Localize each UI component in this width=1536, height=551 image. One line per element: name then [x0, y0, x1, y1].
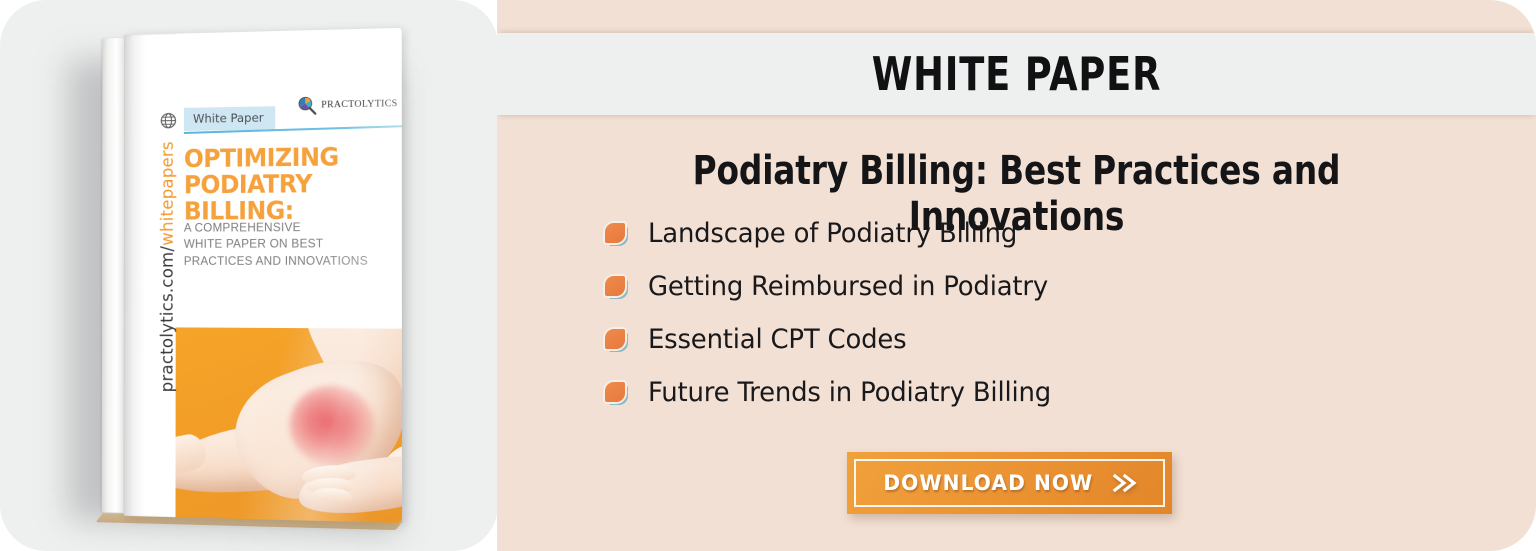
list-item-label: Getting Reimbursed in Podiatry: [648, 271, 1048, 302]
magnifier-pie-chart-icon: [297, 95, 318, 116]
promo-content-panel: WHITE PAPER Podiatry Billing: Best Pract…: [497, 0, 1536, 551]
banner-band-title: WHITE PAPER: [601, 33, 1432, 115]
book-3d: practolytics.com/whitepapers White Paper: [106, 28, 405, 523]
book-whitepaper-badge: White Paper: [184, 106, 275, 131]
whitepaper-book-mockup: practolytics.com/whitepapers White Paper: [60, 25, 420, 525]
list-item-label: Future Trends in Podiatry Billing: [648, 377, 1051, 408]
book-cover-top: White Paper PRACTOLYTICS: [176, 28, 402, 329]
book-brand-lockup: PRACTOLYTICS: [297, 94, 398, 116]
book-spine-strip: practolytics.com/whitepapers: [145, 33, 190, 517]
list-item: Future Trends in Podiatry Billing: [605, 377, 1068, 408]
list-item-label: Landscape of Podiatry Billing: [648, 218, 1017, 249]
book-stage-panel: practolytics.com/whitepapers White Paper: [0, 0, 498, 551]
bullet-leaf-icon: [605, 382, 627, 404]
book-cover: practolytics.com/whitepapers White Paper: [123, 28, 402, 523]
download-now-label: DOWNLOAD NOW: [883, 471, 1093, 495]
book-cover-photo: [175, 327, 402, 523]
bullet-leaf-icon: [605, 276, 627, 298]
spine-domain: practolytics.com/: [157, 246, 176, 393]
globe-icon: [159, 112, 176, 129]
book-cover-subtitle: A COMPREHENSIVE WHITE PAPER ON BEST PRAC…: [184, 219, 400, 270]
spine-path: whitepapers: [157, 141, 176, 246]
download-now-button[interactable]: DOWNLOAD NOW: [847, 452, 1172, 514]
cta-wrapper: DOWNLOAD NOW: [847, 452, 1172, 514]
list-item: Getting Reimbursed in Podiatry: [605, 271, 1068, 302]
book-spine-url: practolytics.com/whitepapers: [159, 141, 176, 392]
panel-seam: [430, 0, 498, 551]
topics-list: Landscape of Podiatry Billing Getting Re…: [605, 218, 1068, 408]
book-brand-name: PRACTOLYTICS: [321, 99, 397, 111]
bullet-leaf-icon: [605, 223, 627, 245]
double-chevron-right-icon: [1110, 471, 1140, 495]
list-item: Landscape of Podiatry Billing: [605, 218, 1068, 249]
whitepaper-promo-banner: practolytics.com/whitepapers White Paper: [0, 0, 1536, 551]
list-item: Essential CPT Codes: [605, 324, 1068, 355]
book-cover-title: OPTIMIZING PODIATRY BILLING:: [184, 143, 384, 224]
bullet-leaf-icon: [605, 329, 627, 351]
photo-inflamed-heel: [289, 385, 374, 466]
list-item-label: Essential CPT Codes: [648, 324, 906, 355]
white-paper-banner-band: WHITE PAPER: [497, 33, 1536, 115]
book-cover-gutter-shading: [123, 34, 146, 516]
